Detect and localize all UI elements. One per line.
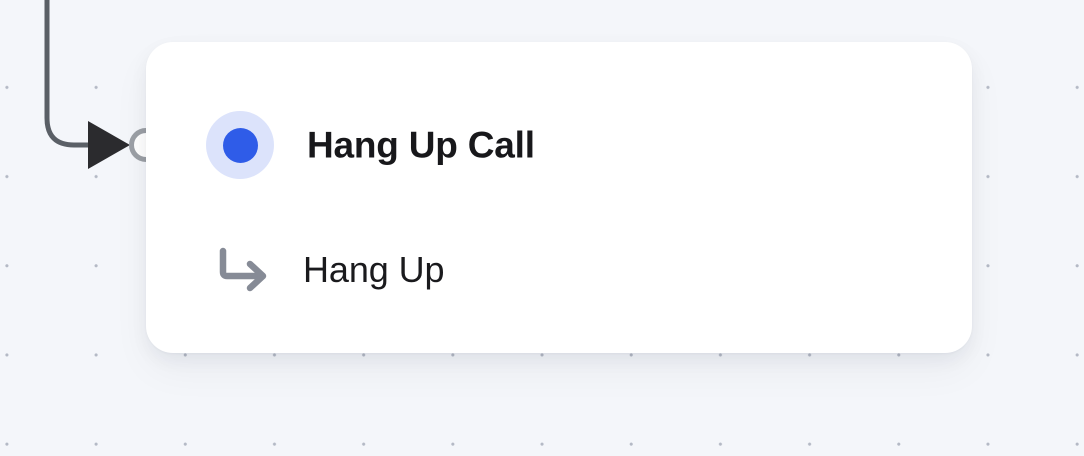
node-status-badge xyxy=(206,111,274,179)
edge-path[interactable] xyxy=(47,0,96,145)
node-header[interactable]: Hang Up Call xyxy=(146,42,972,248)
node-title: Hang Up Call xyxy=(307,127,535,164)
edge-arrowhead-icon xyxy=(88,121,130,169)
node-card[interactable]: Hang Up Call Hang Up xyxy=(146,42,972,353)
status-dot-icon xyxy=(223,128,258,163)
flow-canvas[interactable]: Hang Up Call Hang Up xyxy=(0,0,1084,456)
corner-down-right-icon xyxy=(216,242,272,298)
node-action-row[interactable]: Hang Up xyxy=(146,230,972,310)
node-action-label: Hang Up xyxy=(303,252,444,288)
